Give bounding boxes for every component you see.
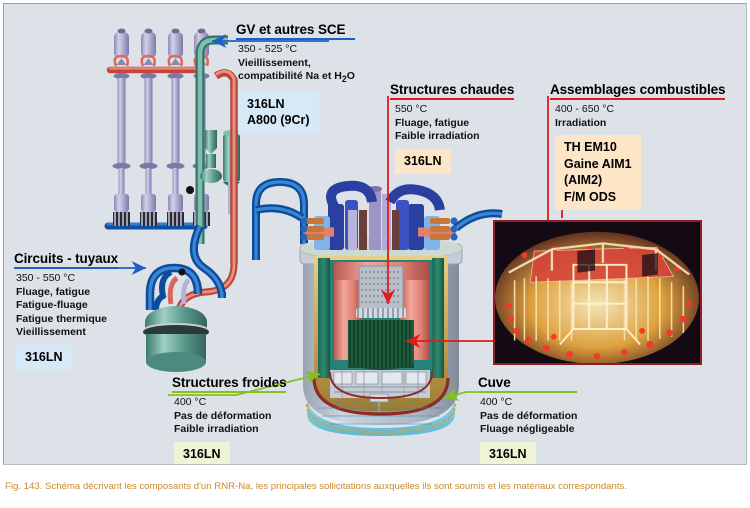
callout-structures-chaudes-stress-1: Fluage, fatigue [395,117,514,131]
callout-circuits-tuyaux-material-1: 316LN [25,349,63,366]
callout-assemblages-combustibles-temperature: 400 - 650 °C [555,103,725,117]
callout-structures-froides-stress-2: Faible irradiation [174,423,286,437]
callout-circuits-tuyaux-stress-3: Fatigue thermique [16,313,118,327]
callout-structures-chaudes: Structures chaudes 550 °C Fluage, fatigu… [390,82,514,174]
callout-structures-froides-title: Structures froides [172,375,286,391]
callout-circuits-tuyaux-title: Circuits - tuyaux [14,251,118,267]
callout-assemblages-combustibles: Assemblages combustibles 400 - 650 °C Ir… [550,82,725,210]
callout-assemblages-combustibles-material-4: F/M ODS [564,189,632,206]
callout-cuve-materials: 316LN [480,442,536,466]
callout-gv-rule [236,38,355,40]
callout-structures-froides-temperature: 400 °C [174,396,286,410]
callout-gv-temperature: 350 - 525 °C [238,43,355,57]
callout-gv-stress-1: Vieillissement, [238,57,355,71]
callout-assemblages-combustibles-stress-1: Irradiation [555,117,725,131]
callout-cuve-temperature: 400 °C [480,396,577,410]
callout-gv-material-2: A800 (9Cr) [247,112,310,129]
callout-structures-froides: Structures froides 400 °C Pas de déforma… [172,375,286,465]
callout-structures-froides-material-1: 316LN [183,446,221,463]
callout-cuve: Cuve 400 °C Pas de déformation Fluage né… [478,375,577,465]
callout-gv-stress-2: compatibilité Na et H2O [238,70,355,87]
callout-assemblages-combustibles-material-2: Gaine AIM1 [564,156,632,173]
callout-assemblages-combustibles-materials: TH EM10 Gaine AIM1 (AIM2) F/M ODS [555,135,641,210]
callout-gv-title: GV et autres SCE [236,22,355,38]
callout-cuve-stress-2: Fluage négligeable [480,423,577,437]
callout-circuits-tuyaux-temperature: 350 - 550 °C [16,272,118,286]
figure-panel: GV et autres SCE 350 - 525 °C Vieillisse… [3,3,747,465]
callout-structures-chaudes-materials: 316LN [395,149,451,175]
callout-cuve-title: Cuve [478,375,577,391]
callout-assemblages-combustibles-title: Assemblages combustibles [550,82,725,98]
callout-circuits-tuyaux-stress-2: Fatigue-fluage [16,299,118,313]
callout-structures-chaudes-stress-2: Faible irradiation [395,130,514,144]
callout-structures-froides-rule [172,391,286,393]
reactor-vessel-cutaway [300,236,462,436]
callout-circuits-tuyaux: Circuits - tuyaux 350 - 550 °C Fluage, f… [14,251,118,370]
callout-structures-chaudes-temperature: 550 °C [395,103,514,117]
vessel-top-nozzles [256,186,502,250]
callout-cuve-stress-1: Pas de déformation [480,410,577,424]
callout-gv-material-1: 316LN [247,96,310,113]
callout-structures-froides-stress-1: Pas de déformation [174,410,286,424]
figure-caption: Fig. 143. Schéma décrivant les composant… [5,480,745,493]
callout-gv-materials: 316LN A800 (9Cr) [238,92,319,134]
callout-structures-chaudes-material-1: 316LN [404,153,442,170]
callout-assemblages-combustibles-rule [550,98,725,100]
callout-cuve-material-1: 316LN [489,446,527,463]
callout-structures-chaudes-title: Structures chaudes [390,82,514,98]
callout-assemblages-combustibles-material-1: TH EM10 [564,139,632,156]
callout-assemblages-combustibles-material-3: (AIM2) [564,172,632,189]
callout-circuits-tuyaux-stress-4: Vieillissement [16,326,118,340]
callout-cuve-rule [478,391,577,393]
callout-gv: GV et autres SCE 350 - 525 °C Vieillisse… [236,22,355,134]
photo-inset [493,220,702,365]
callout-circuits-tuyaux-materials: 316LN [16,345,72,371]
callout-circuits-tuyaux-rule [14,267,118,269]
callout-circuits-tuyaux-stress-1: Fluage, fatigue [16,286,118,300]
callout-structures-chaudes-rule [390,98,514,100]
steam-generator-bank [108,29,211,226]
callout-structures-froides-materials: 316LN [174,442,230,466]
